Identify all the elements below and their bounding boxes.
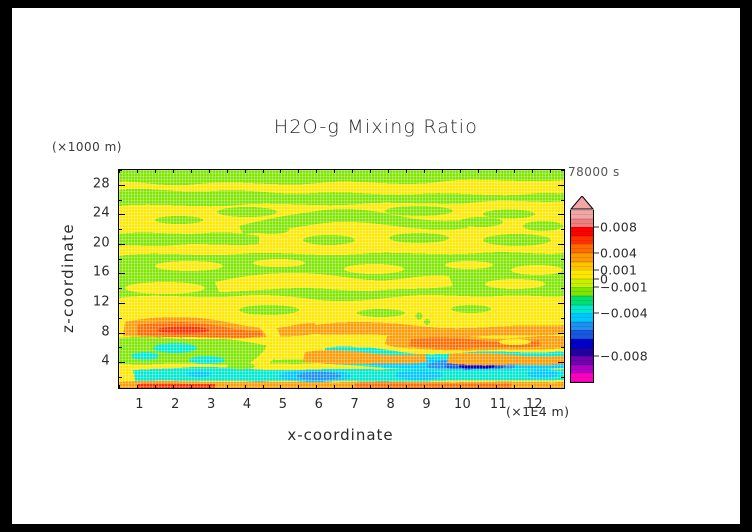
axis-tick-y bbox=[119, 170, 122, 171]
colorbar-band-texture bbox=[571, 227, 593, 236]
axis-tick-y bbox=[119, 229, 122, 230]
colorbar-band-texture bbox=[571, 270, 593, 279]
axis-tick-x bbox=[173, 170, 174, 173]
colorbar-band-texture bbox=[571, 339, 593, 348]
axis-tick-x bbox=[227, 385, 228, 388]
x-tick-label: 4 bbox=[243, 397, 252, 412]
axis-tick-y bbox=[561, 259, 564, 260]
colorbar-bands bbox=[570, 210, 594, 383]
x-tick-label: 6 bbox=[315, 397, 324, 412]
colorbar-band bbox=[571, 270, 593, 279]
colorbar-band-texture bbox=[571, 356, 593, 365]
colorbar-band-texture bbox=[571, 236, 593, 245]
x-tick-label: 11 bbox=[490, 397, 507, 412]
colorbar-label: 0.004 bbox=[600, 246, 637, 261]
colorbar-tick bbox=[594, 270, 599, 271]
x-tick-label: 8 bbox=[386, 397, 395, 412]
axis-tick-y bbox=[119, 244, 125, 245]
colorbar-band-texture bbox=[571, 305, 593, 314]
axis-tick-x bbox=[316, 385, 317, 388]
axis-tick-y bbox=[561, 200, 564, 201]
axis-tick-y bbox=[119, 214, 125, 215]
axis-tick-y bbox=[119, 288, 122, 289]
axis-tick-y bbox=[119, 347, 122, 348]
axis-tick-x bbox=[442, 170, 443, 173]
axis-tick-y bbox=[119, 273, 125, 274]
y-tick-label: 4 bbox=[74, 354, 110, 369]
axis-tick-x bbox=[298, 385, 299, 388]
colorbar-band bbox=[571, 339, 593, 348]
x-tick-label: 10 bbox=[454, 397, 471, 412]
axis-tick-y bbox=[119, 377, 122, 378]
colorbar-band-texture bbox=[571, 313, 593, 322]
colorbar-label: 0.008 bbox=[600, 220, 637, 235]
axis-tick-x bbox=[496, 385, 497, 388]
axis-tick-x bbox=[137, 385, 138, 388]
colorbar-band bbox=[571, 227, 593, 236]
colorbar-band-texture bbox=[571, 330, 593, 339]
axis-tick-y bbox=[119, 185, 125, 186]
axis-tick-y bbox=[561, 229, 564, 230]
axis-tick-x bbox=[334, 170, 335, 173]
axis-tick-x bbox=[442, 385, 443, 388]
colorbar-band-texture bbox=[571, 244, 593, 253]
x-axis-unit-label: (×1E4 m) bbox=[506, 404, 569, 419]
axis-tick-x bbox=[263, 170, 264, 173]
colorbar-tick bbox=[594, 278, 599, 279]
colorbar-band-texture bbox=[571, 279, 593, 288]
axis-tick-y bbox=[119, 303, 125, 304]
axis-tick-y bbox=[119, 333, 125, 334]
axis-tick-x bbox=[550, 385, 551, 388]
colorbar[interactable]: 0.0080.0040.0010−0.001−0.004−0.008 bbox=[570, 196, 594, 383]
colorbar-band bbox=[571, 348, 593, 357]
y-tick-label: 16 bbox=[74, 265, 110, 280]
page-title: H2O-g Mixing Ratio bbox=[12, 116, 740, 138]
axis-tick-y bbox=[561, 170, 564, 171]
axis-tick-x bbox=[496, 170, 497, 173]
axis-tick-x bbox=[263, 385, 264, 388]
colorbar-tick bbox=[594, 253, 599, 254]
colorbar-band bbox=[571, 279, 593, 288]
colorbar-label: −0.001 bbox=[600, 280, 648, 295]
axis-tick-x bbox=[514, 170, 515, 173]
axis-tick-x bbox=[137, 170, 138, 173]
y-tick-label: 8 bbox=[74, 324, 110, 339]
colorbar-band bbox=[571, 296, 593, 305]
axis-tick-x bbox=[245, 170, 246, 173]
colorbar-band-texture bbox=[571, 373, 593, 382]
axis-tick-x bbox=[406, 385, 407, 388]
axis-tick-x bbox=[227, 170, 228, 173]
axis-tick-y bbox=[558, 362, 564, 363]
colorbar-tick bbox=[594, 356, 599, 357]
axis-tick-y bbox=[558, 273, 564, 274]
colorbar-band bbox=[571, 356, 593, 365]
x-axis-title: x-coordinate bbox=[118, 426, 563, 444]
colorbar-tick bbox=[594, 313, 599, 314]
colorbar-band-texture bbox=[571, 322, 593, 331]
timestamp-annotation: 78000 s bbox=[568, 165, 620, 179]
colorbar-tick bbox=[594, 227, 599, 228]
axis-tick-x bbox=[316, 170, 317, 173]
axis-tick-y bbox=[119, 200, 122, 201]
colorbar-band bbox=[571, 236, 593, 245]
axis-tick-y bbox=[561, 377, 564, 378]
colorbar-band-texture bbox=[571, 287, 593, 296]
colorbar-band-texture bbox=[571, 262, 593, 271]
axis-tick-x bbox=[155, 170, 156, 173]
axis-tick-x bbox=[334, 385, 335, 388]
colorbar-band-texture bbox=[571, 219, 593, 228]
colorbar-label: −0.004 bbox=[600, 306, 648, 321]
axis-tick-x bbox=[406, 170, 407, 173]
x-tick-label: 1 bbox=[135, 397, 144, 412]
colorbar-arrow-cap bbox=[570, 196, 594, 210]
y-axis-title: z-coordinate bbox=[59, 223, 77, 333]
axis-tick-x bbox=[280, 385, 281, 388]
axis-tick-x bbox=[173, 385, 174, 388]
x-tick-label: 2 bbox=[171, 397, 180, 412]
axis-tick-y bbox=[558, 333, 564, 334]
colorbar-band bbox=[571, 313, 593, 322]
axis-tick-x bbox=[388, 385, 389, 388]
colorbar-band-texture bbox=[571, 210, 593, 219]
x-tick-label: 7 bbox=[351, 397, 360, 412]
figure-canvas: H2O-g Mixing Ratio (×1000 m) 78000 s bbox=[12, 8, 740, 524]
axis-tick-y bbox=[558, 185, 564, 186]
axis-tick-y bbox=[119, 318, 122, 319]
colorbar-band bbox=[571, 253, 593, 262]
colorbar-band-texture bbox=[571, 348, 593, 357]
axis-tick-x bbox=[388, 170, 389, 173]
axis-tick-y bbox=[558, 303, 564, 304]
axis-tick-x bbox=[424, 385, 425, 388]
colorbar-tick bbox=[594, 287, 599, 288]
axis-tick-x bbox=[478, 385, 479, 388]
x-tick-label: 3 bbox=[207, 397, 216, 412]
axis-tick-x bbox=[298, 170, 299, 173]
axis-tick-x bbox=[191, 170, 192, 173]
axis-tick-y bbox=[558, 214, 564, 215]
colorbar-band-texture bbox=[571, 365, 593, 374]
axis-tick-x bbox=[478, 170, 479, 173]
axis-tick-y bbox=[558, 244, 564, 245]
axis-tick-x bbox=[460, 170, 461, 173]
axis-tick-x bbox=[370, 170, 371, 173]
axis-tick-x bbox=[245, 385, 246, 388]
axis-tick-y bbox=[119, 362, 125, 363]
axis-tick-y bbox=[561, 347, 564, 348]
z-axis-unit-label: (×1000 m) bbox=[52, 140, 122, 154]
x-tick-label: 5 bbox=[279, 397, 288, 412]
axis-tick-x bbox=[352, 170, 353, 173]
axis-tick-x bbox=[550, 170, 551, 173]
axis-tick-x bbox=[119, 385, 120, 388]
y-tick-label: 20 bbox=[74, 235, 110, 250]
colorbar-label: −0.008 bbox=[600, 349, 648, 364]
colorbar-band bbox=[571, 262, 593, 271]
contour-plot-area[interactable] bbox=[118, 169, 565, 389]
colorbar-band bbox=[571, 305, 593, 314]
colorbar-band bbox=[571, 322, 593, 331]
x-tick-label: 9 bbox=[422, 397, 431, 412]
figure-frame: H2O-g Mixing Ratio (×1000 m) 78000 s bbox=[0, 0, 752, 532]
axis-tick-x bbox=[532, 170, 533, 173]
axis-tick-x bbox=[370, 385, 371, 388]
colorbar-band bbox=[571, 287, 593, 296]
colorbar-band bbox=[571, 330, 593, 339]
y-tick-label: 12 bbox=[74, 295, 110, 310]
colorbar-band bbox=[571, 365, 593, 374]
heatmap-field bbox=[119, 170, 564, 388]
axis-tick-x bbox=[514, 385, 515, 388]
axis-tick-x bbox=[532, 385, 533, 388]
axis-tick-y bbox=[119, 259, 122, 260]
axis-tick-x bbox=[209, 385, 210, 388]
axis-tick-x bbox=[352, 385, 353, 388]
axis-tick-y bbox=[561, 288, 564, 289]
colorbar-band-texture bbox=[571, 296, 593, 305]
y-tick-label: 28 bbox=[74, 176, 110, 191]
colorbar-band bbox=[571, 244, 593, 253]
axis-tick-y bbox=[561, 318, 564, 319]
axis-tick-x bbox=[209, 170, 210, 173]
colorbar-band bbox=[571, 210, 593, 219]
axis-tick-x bbox=[460, 385, 461, 388]
axis-tick-x bbox=[191, 385, 192, 388]
axis-tick-x bbox=[155, 385, 156, 388]
colorbar-band-texture bbox=[571, 253, 593, 262]
y-tick-label: 24 bbox=[74, 206, 110, 221]
colorbar-band bbox=[571, 373, 593, 382]
axis-tick-x bbox=[424, 170, 425, 173]
colorbar-band bbox=[571, 219, 593, 228]
axis-tick-x bbox=[280, 170, 281, 173]
